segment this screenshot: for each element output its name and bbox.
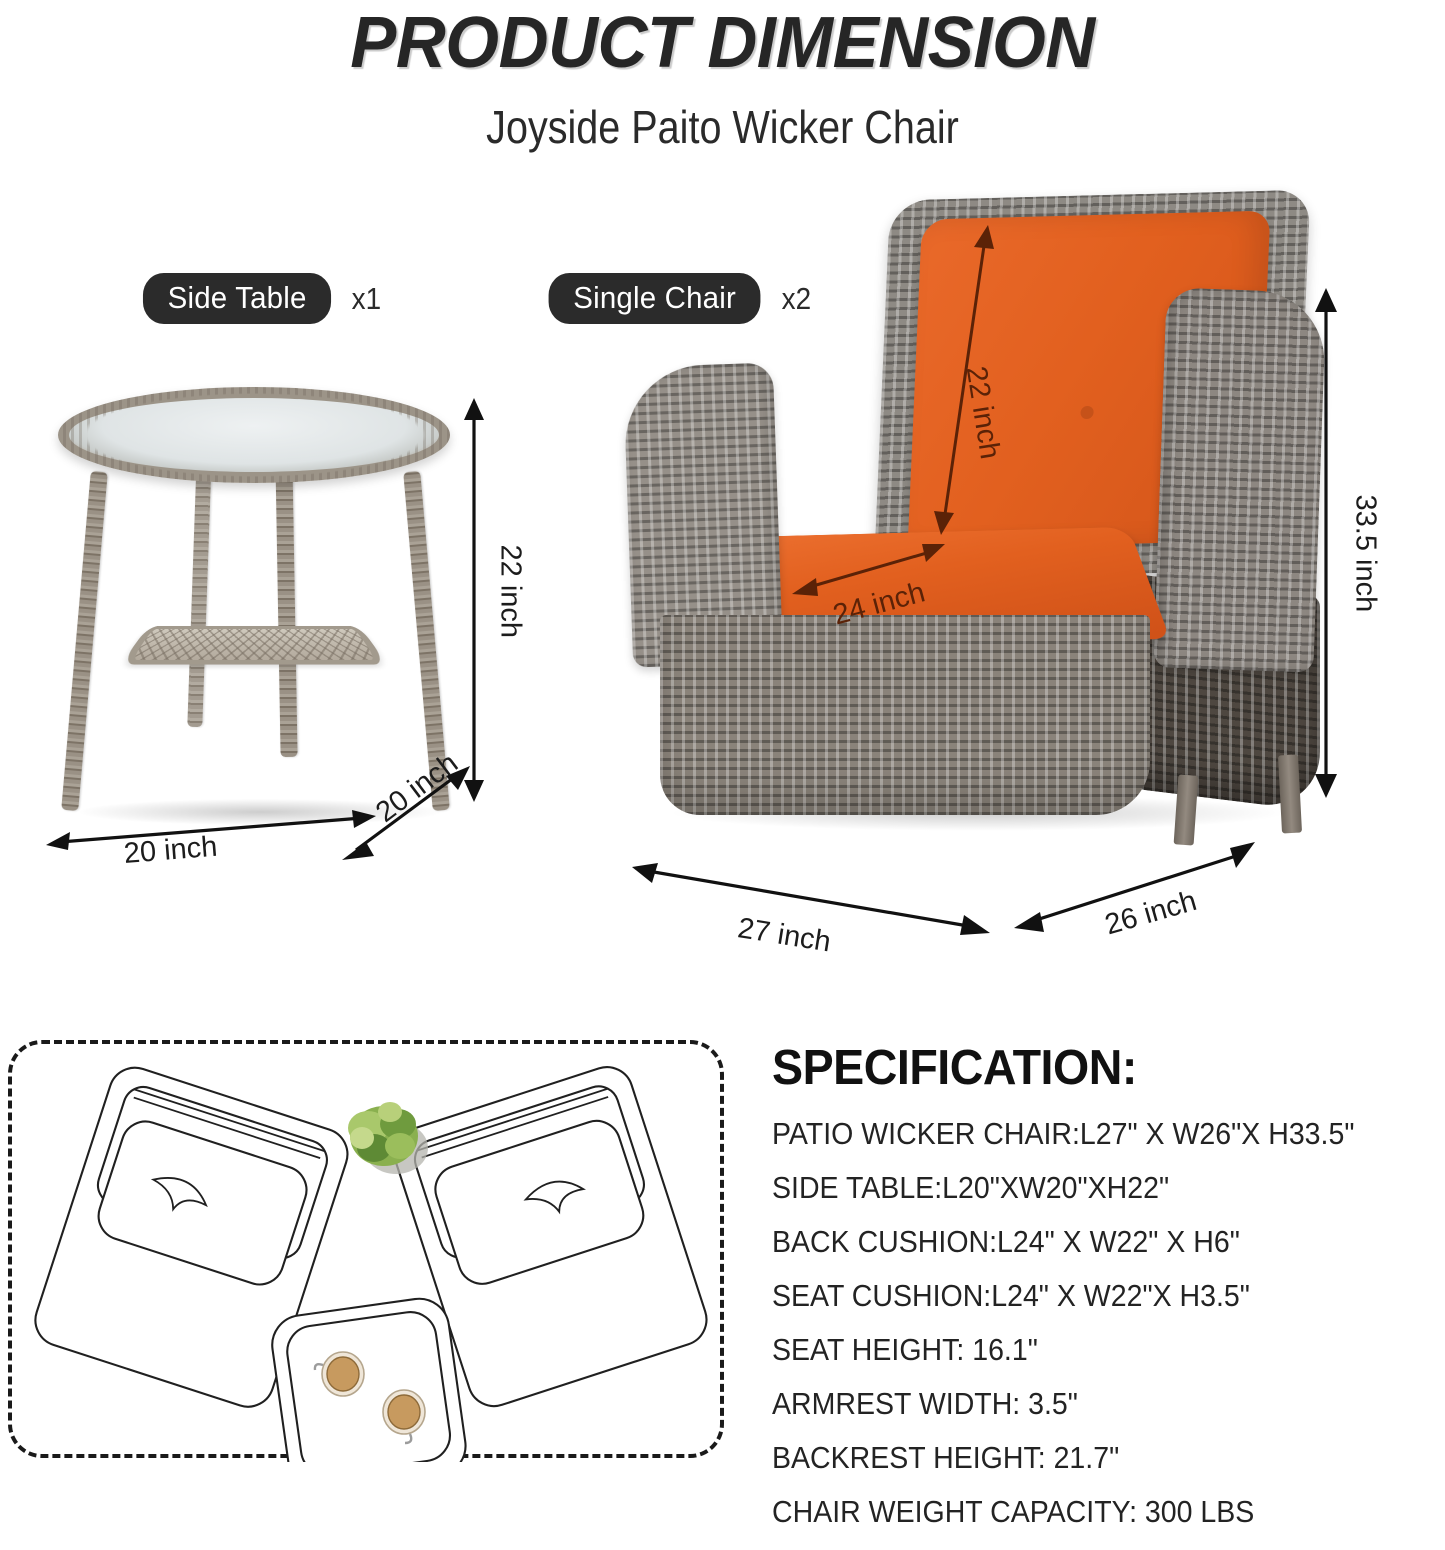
badge-qty-side-table: x1 <box>352 281 381 317</box>
chair-armrest-right <box>1153 287 1326 672</box>
side-table-height-arrow <box>460 398 488 802</box>
layout-line-art <box>12 1044 728 1462</box>
spec-line-seat-cushion: SEAT CUSHION:L24" X W22"X H3.5" <box>772 1280 1384 1311</box>
side-table-width-label: 20 inch <box>123 831 219 871</box>
spec-line-patio-wicker-chair: PATIO WICKER CHAIR:L27" X W26"X H33.5" <box>772 1118 1384 1149</box>
spec-line-side-table: SIDE TABLE:L20"XW20"XH22" <box>772 1172 1384 1203</box>
spec-line-back-cushion: BACK CUSHION:L24" X W22" X H6" <box>772 1226 1384 1257</box>
chair-leg-front <box>1174 774 1199 845</box>
layout-square-table <box>268 1295 469 1462</box>
side-table-lower-shelf <box>120 626 387 665</box>
spec-line-weight-capacity: CHAIR WEIGHT CAPACITY: 300 LBS <box>772 1496 1384 1527</box>
chair-height-arrow <box>1312 288 1340 798</box>
chair-front-skirt <box>660 615 1150 815</box>
badge-side-table: Side Table x1 <box>138 273 383 324</box>
page-subtitle: Joyside Paito Wicker Chair <box>101 100 1344 154</box>
side-table-height-label: 22 inch <box>494 545 527 639</box>
header: PRODUCT DIMENSION Joyside Paito Wicker C… <box>0 0 1445 175</box>
side-table-leg-back-left <box>187 457 211 727</box>
specification-heading: SPECIFICATION: <box>772 1040 1404 1096</box>
side-table-wicker-rim <box>58 387 450 483</box>
room-layout-diagram <box>8 1040 724 1458</box>
side-table-leg-back-right <box>275 457 297 757</box>
chair-leg-back <box>1278 755 1302 834</box>
spec-line-backrest-height: BACKREST HEIGHT: 21.7" <box>772 1442 1384 1473</box>
spec-line-seat-height: SEAT HEIGHT: 16.1" <box>772 1334 1384 1365</box>
badge-label-side-table: Side Table <box>143 273 331 324</box>
page-title: PRODUCT DIMENSION <box>29 2 1416 84</box>
specification-block: SPECIFICATION: PATIO WICKER CHAIR:L27" X… <box>772 1040 1437 1550</box>
spec-line-armrest-width: ARMREST WIDTH: 3.5" <box>772 1388 1384 1419</box>
side-table-leg-front-left <box>61 471 108 811</box>
layout-plant <box>348 1102 428 1174</box>
chair-height-label: 33.5 inch <box>1349 495 1382 613</box>
